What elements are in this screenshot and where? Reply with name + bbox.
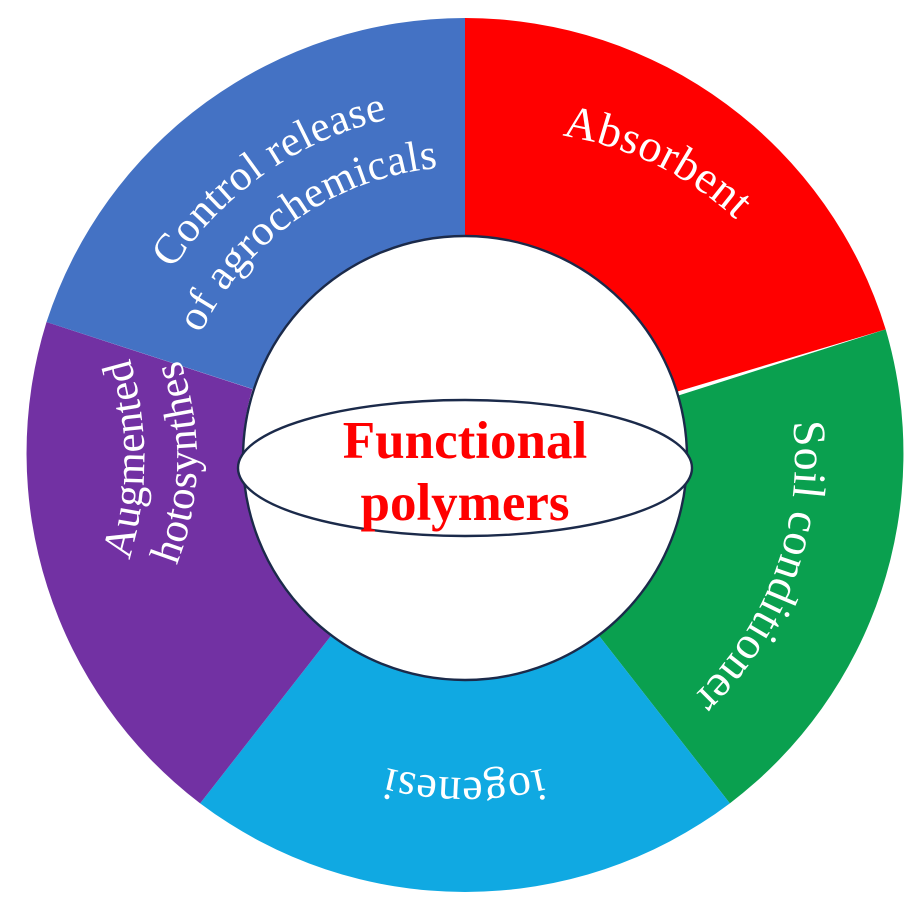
center-title-line2: polymers <box>360 474 569 532</box>
center-title-plate[interactable]: Functional polymers <box>238 400 692 536</box>
diagram-root: Absorbent Soil conditioner Biogenesis Au… <box>0 0 922 914</box>
functional-polymers-wheel: Absorbent Soil conditioner Biogenesis Au… <box>0 0 922 914</box>
center-title-line1: Functional <box>343 412 587 470</box>
